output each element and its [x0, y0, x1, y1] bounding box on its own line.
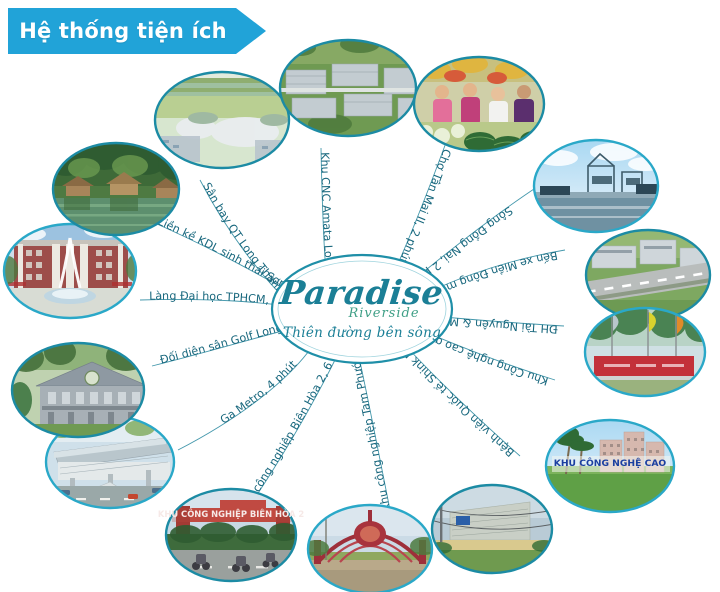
- sign-text-kcn-bien-hoa-2: KHU CÔNG NGHIỆP BIÊN HÒA 2: [158, 508, 305, 519]
- photo-industrial-park-aerial-photo: [278, 35, 428, 140]
- header-banner: Hệ thống tiện ích: [8, 8, 266, 54]
- photo-hospital-building-photo: [428, 484, 556, 574]
- infographic-canvas: Sân bay QT Long Thành, 10 phút Khu CNC A…: [0, 0, 720, 592]
- logo-tagline: Thiên đường bên sông: [283, 325, 441, 341]
- page-title: Hệ thống tiện ích: [8, 8, 238, 54]
- center-logo: Paradise Riverside Thiên đường bên sông: [274, 257, 450, 361]
- sign-text-khu-cong-nghe-cao: KHU CÔNG NGHỆ CAO: [554, 457, 667, 469]
- logo-brand: Paradise: [279, 276, 446, 309]
- photo-campus-banner-flags-photo: [582, 301, 715, 400]
- photo-airport-aerial-render-photo: [150, 66, 300, 178]
- photo-university-fountain-photo: [0, 222, 146, 320]
